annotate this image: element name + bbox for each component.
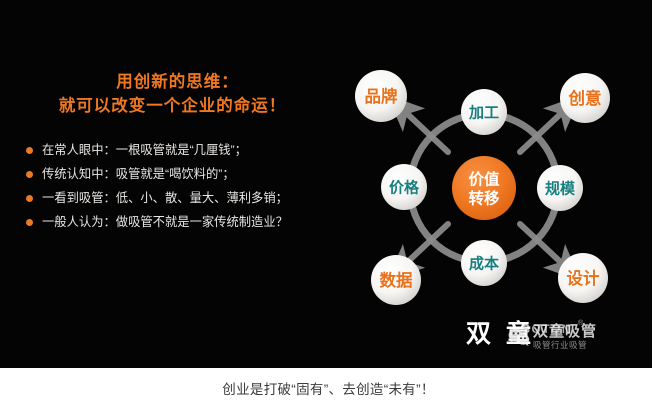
bullet-dot-icon [26,195,33,202]
diagram-node-brand-label: 品牌 [365,86,399,106]
diagram-node-scale[interactable]: 规模 [537,165,583,211]
list-item: 在常人眼中：一根吸管就是“几厘钱”； [26,143,345,158]
diagram-center-label-line1: 价值 [468,170,500,189]
list-item-label: 在常人眼中：一根吸管就是“几厘钱”； [42,143,247,158]
diagram-node-design[interactable]: 设计 [558,253,608,303]
watermark-group: 双 童 SOTON ® [466,316,652,360]
diagram-node-cost[interactable]: 成本 [461,240,507,286]
diagram-node-price[interactable]: 价格 [381,164,427,210]
diagram-node-price-label: 价格 [389,179,420,197]
diagram-node-brand[interactable]: 品牌 [355,70,407,122]
diagram-center-node[interactable]: 价值 转移 [452,156,516,220]
list-item-label: 一看到吸管：低、小、散、量大、薄利多销； [42,191,288,206]
list-item-label: 一般人认为：做吸管不就是一家传统制造业？ [42,215,288,230]
list-item: 一般人认为：做吸管不就是一家传统制造业？ [26,215,345,230]
wechat-watermark: 双童吸管 吸管行业吸管 [508,324,597,350]
diagram-center-label-line2: 转移 [468,189,500,208]
wechat-texts: 双童吸管 吸管行业吸管 [533,324,597,350]
caption-text: 创业是打破“固有”、去创造“未有”！ [222,378,434,398]
diagram-node-cost-label: 成本 [469,255,499,273]
value-transfer-diagram: 品牌 创意 数据 设计 [340,55,652,315]
wechat-account-subtitle: 吸管行业吸管 [533,340,597,350]
bullet-dot-icon [26,147,33,154]
slide-image: 用创新的思维： 就可以改变一个企业的命运！ 在常人眼中：一根吸管就是“几厘钱”；… [0,0,652,368]
list-item: 一看到吸管：低、小、散、量大、薄利多销； [26,191,345,206]
bullet-list: 在常人眼中：一根吸管就是“几厘钱”； 传统认知中：吸管就是“喝饮料的”； 一看到… [0,143,345,230]
wechat-account-name: 双童吸管 [533,324,597,340]
diagram-node-processing[interactable]: 加工 [461,89,507,135]
bullet-dot-icon [26,219,33,226]
diagram-node-data[interactable]: 数据 [371,255,421,305]
slide-page: 用创新的思维： 就可以改变一个企业的命运！ 在常人眼中：一根吸管就是“几厘钱”；… [0,0,657,407]
headline-line-2: 就可以改变一个企业的命运！ [0,95,345,117]
bullet-dot-icon [26,171,33,178]
list-item: 传统认知中：吸管就是“喝饮料的”； [26,167,345,182]
diagram-node-processing-label: 加工 [468,105,499,122]
diagram-node-scale-label: 规模 [545,180,576,198]
diagram-node-creative-label: 创意 [568,88,602,108]
headline-line-1: 用创新的思维： [0,72,345,92]
caption-bar: 创业是打破“固有”、去创造“未有”！ [0,368,657,407]
diagram-node-design-label: 设计 [567,268,601,288]
diagram-node-data-label: 数据 [380,270,414,290]
list-item-label: 传统认知中：吸管就是“喝饮料的”； [42,167,235,182]
wechat-icon [508,327,530,347]
text-column: 用创新的思维： 就可以改变一个企业的命运！ 在常人眼中：一根吸管就是“几厘钱”；… [0,72,345,239]
diagram-node-creative[interactable]: 创意 [560,73,610,123]
